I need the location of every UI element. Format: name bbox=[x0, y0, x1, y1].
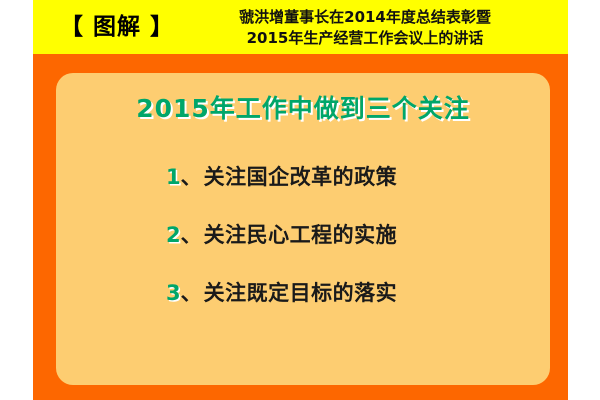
list-item: 3 、 关注既定目标的落实 bbox=[56, 277, 550, 307]
focus-points-list: 1 、 关注国企改革的政策 2 、 关注民心工程的实施 3 、 关注既定目标的落… bbox=[56, 161, 550, 307]
list-item-number: 1 bbox=[166, 165, 181, 189]
list-item-separator: 、 bbox=[181, 277, 202, 307]
header-title-block: 虢洪增董事长在2014年度总结表彰暨 2015年生产经营工作会议上的讲话 bbox=[174, 7, 568, 48]
list-item-number: 2 bbox=[166, 223, 181, 247]
header-title-line-1: 虢洪增董事长在2014年度总结表彰暨 bbox=[180, 7, 550, 27]
list-item-separator: 、 bbox=[181, 161, 202, 191]
header-band: 【 图解 】 虢洪增董事长在2014年度总结表彰暨 2015年生产经营工作会议上… bbox=[33, 0, 568, 55]
list-item-number: 3 bbox=[166, 281, 181, 305]
header-title-line-2: 2015年生产经营工作会议上的讲话 bbox=[180, 28, 550, 48]
list-item-text: 关注既定目标的落实 bbox=[204, 277, 398, 307]
content-panel: 2015年工作中做到三个关注 1 、 关注国企改革的政策 2 、 关注民心工程的… bbox=[56, 73, 550, 385]
slide-root: 【 图解 】 虢洪增董事长在2014年度总结表彰暨 2015年生产经营工作会议上… bbox=[0, 0, 600, 400]
list-item-text: 关注国企改革的政策 bbox=[204, 161, 398, 191]
list-item-separator: 、 bbox=[181, 219, 202, 249]
list-item: 1 、 关注国企改革的政策 bbox=[56, 161, 550, 191]
tag-label: 【 图解 】 bbox=[60, 16, 174, 39]
panel-title: 2015年工作中做到三个关注 bbox=[56, 89, 550, 125]
list-item: 2 、 关注民心工程的实施 bbox=[56, 219, 550, 249]
list-item-text: 关注民心工程的实施 bbox=[204, 219, 398, 249]
